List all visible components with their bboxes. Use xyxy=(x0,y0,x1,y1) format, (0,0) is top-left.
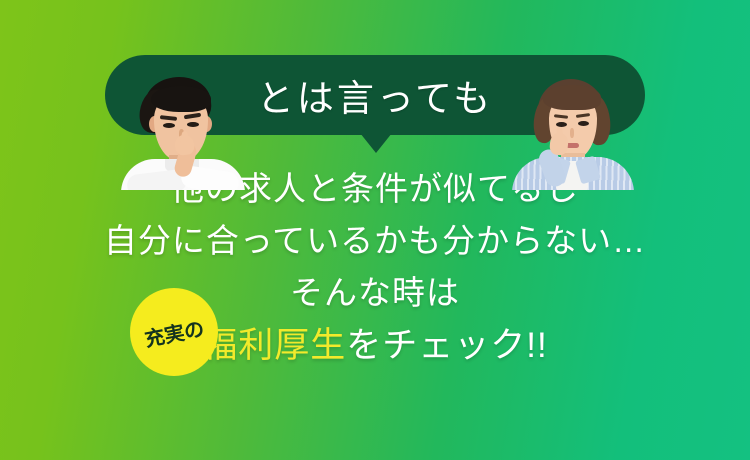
banner-title: とは言っても xyxy=(0,55,750,135)
badge-fulfilling: 充実の xyxy=(130,288,218,376)
copy-line-2: 自分に合っているかも分からない… xyxy=(0,215,750,267)
copy-line-3: そんな時は xyxy=(0,267,750,319)
copy-line-1: 他の求人と条件が似てるし xyxy=(0,163,750,215)
body-copy: 他の求人と条件が似てるし 自分に合っているかも分からない… そんな時は 福利厚生… xyxy=(0,163,750,373)
copy-check-suffix: をチェック!! xyxy=(346,326,547,365)
promo-banner-stage: とは言っても 他の求人と条件が似てるし 自分に合っているかも分からない… そんな… xyxy=(0,0,750,460)
speech-bubble-tail-icon xyxy=(360,133,392,153)
copy-line-4: 福利厚生をチェック!! xyxy=(0,319,750,373)
badge-label: 充実の xyxy=(122,280,225,383)
banner-speech-bubble: とは言っても xyxy=(0,55,750,150)
